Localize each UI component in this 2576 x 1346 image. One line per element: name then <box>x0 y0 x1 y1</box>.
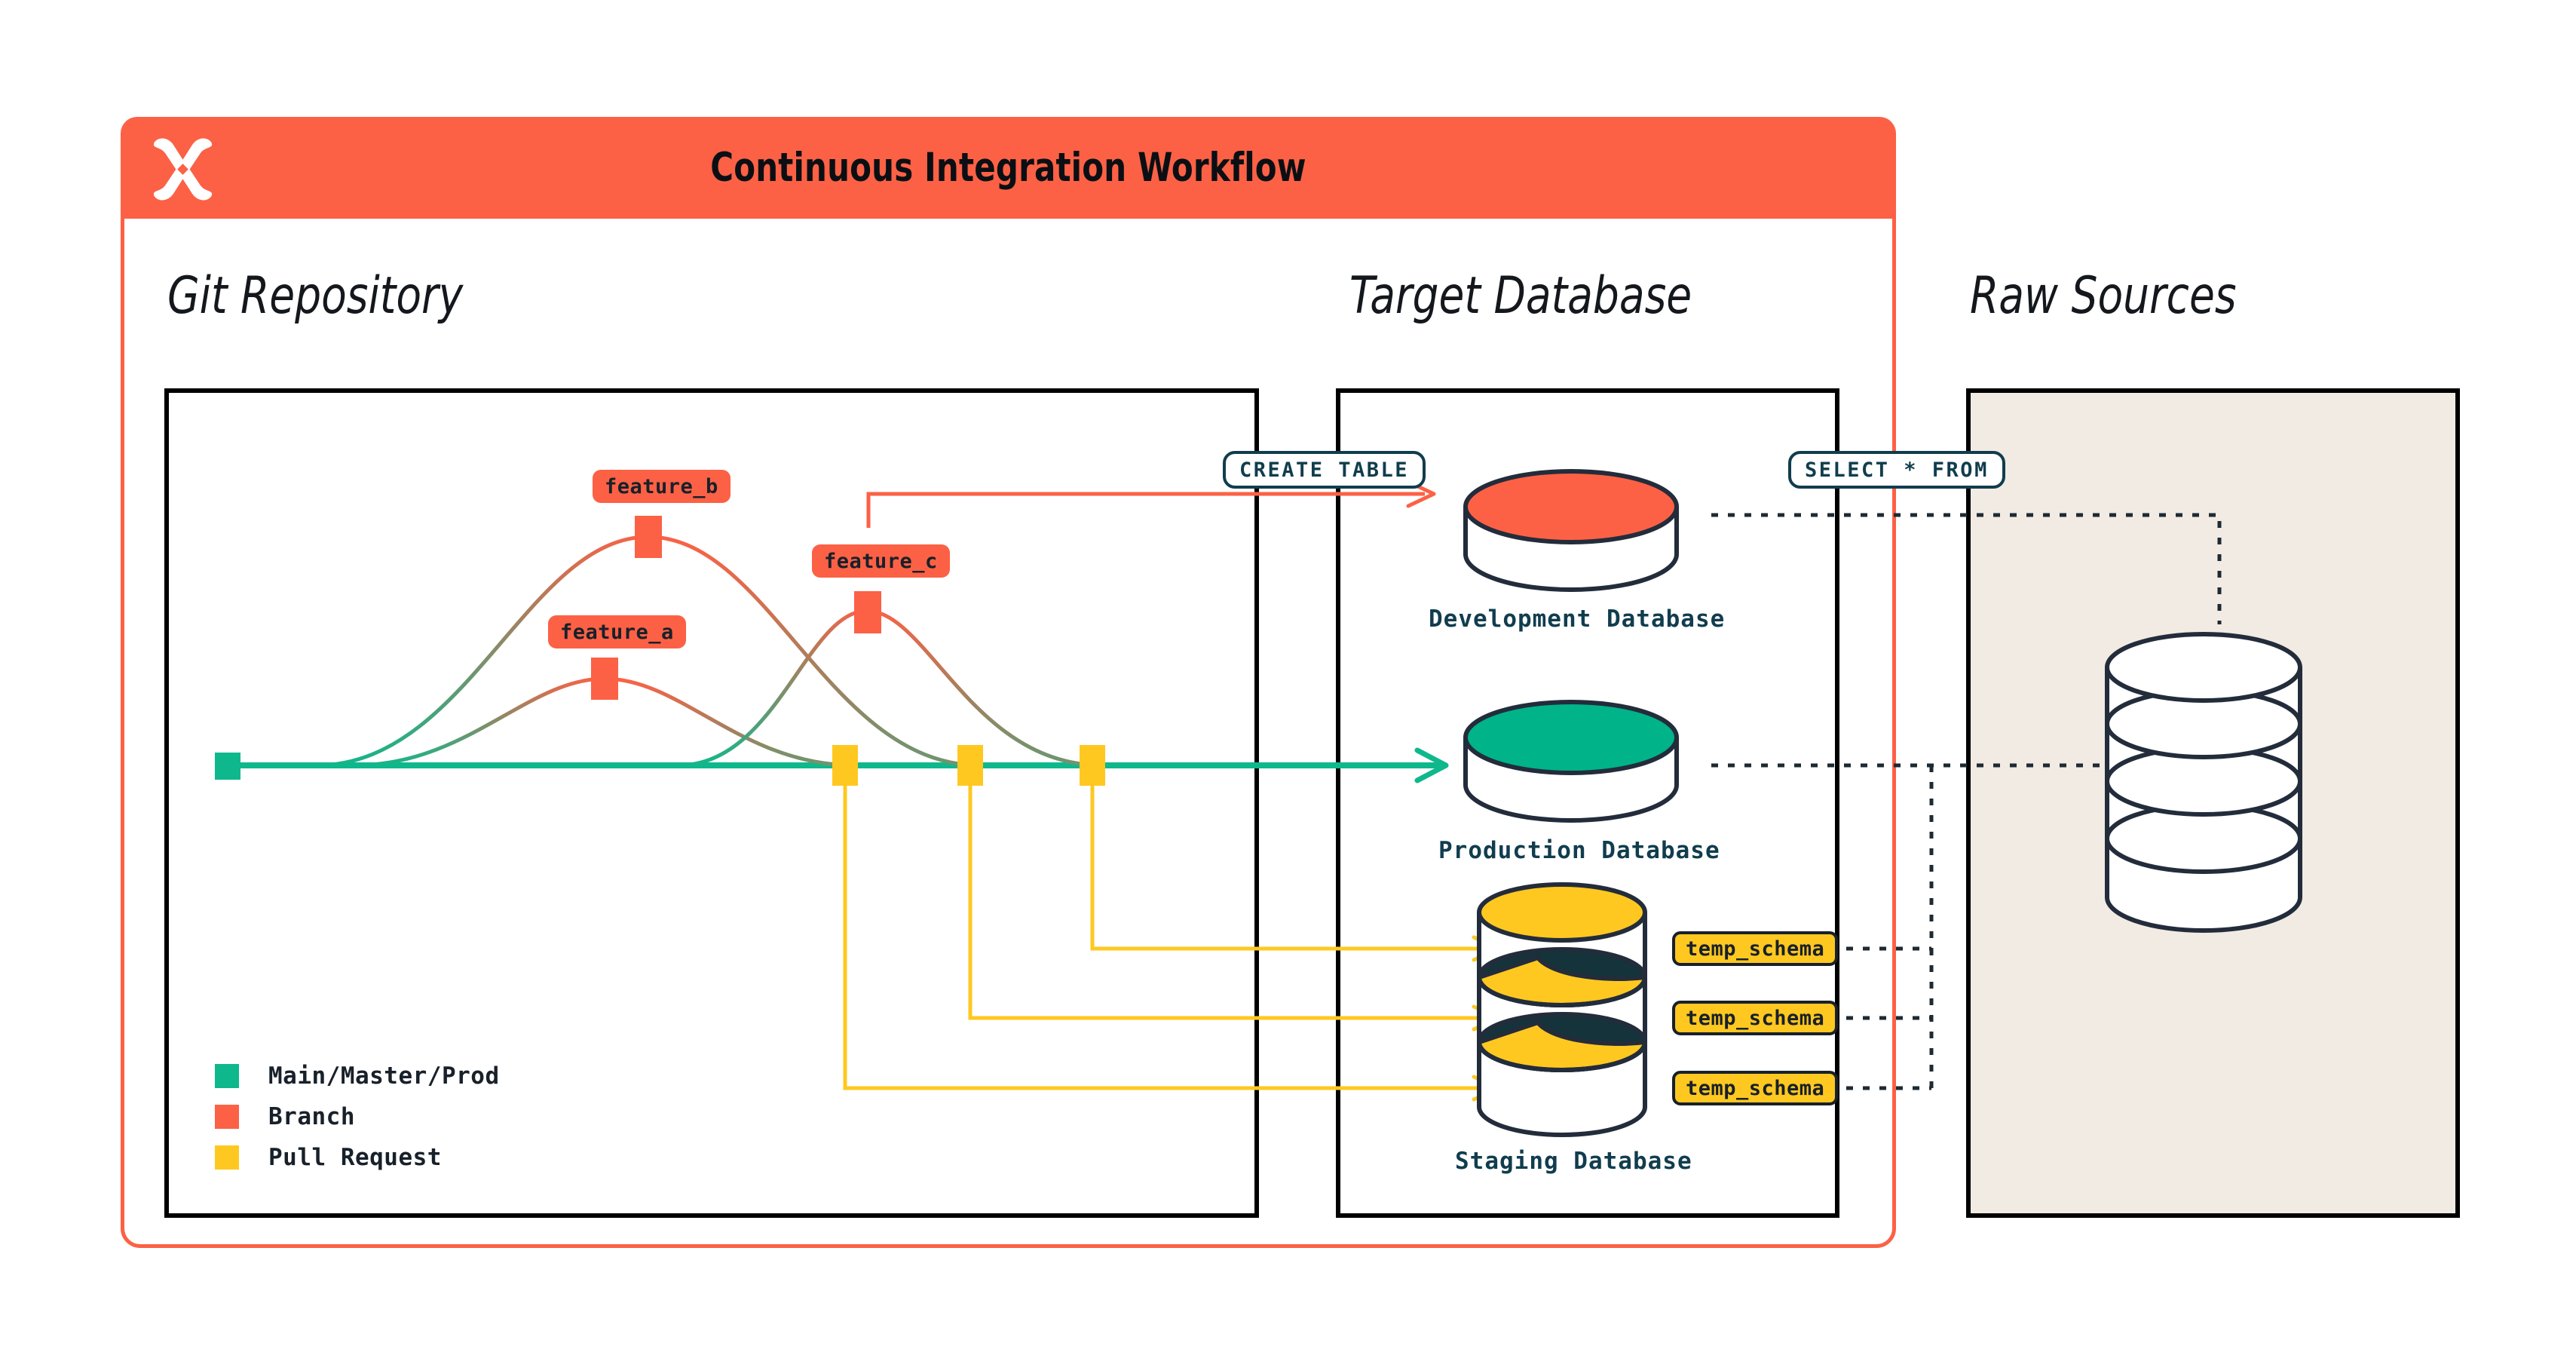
legend-swatch-branch-icon <box>215 1105 239 1129</box>
production-database-cylinder <box>1466 702 1677 820</box>
legend-label-pull-request: Pull Request <box>268 1144 442 1171</box>
commit-node-feature-c[interactable] <box>854 591 881 633</box>
legend-label-branch: Branch <box>268 1103 355 1130</box>
branch-curve-feature-c <box>678 611 1102 765</box>
branch-label-feature-c[interactable]: feature_c <box>812 544 950 578</box>
commit-node-pull-request-1[interactable] <box>832 745 858 786</box>
legend-item-branch: Branch <box>215 1096 500 1137</box>
arrow-pr-1-to-staging-db <box>1092 784 1499 960</box>
legend-label-main: Main/Master/Prod <box>268 1062 500 1090</box>
sql-label-create-table[interactable]: CREATE TABLE <box>1223 451 1426 489</box>
commit-node-main[interactable] <box>215 753 240 780</box>
commit-node-pull-request-2[interactable] <box>957 745 983 786</box>
arrow-pr-2-to-staging-db <box>970 784 1499 1029</box>
legend-swatch-pull-request-icon <box>215 1145 239 1170</box>
legend-item-main: Main/Master/Prod <box>215 1056 500 1096</box>
branch-label-feature-b[interactable]: feature_b <box>593 470 731 503</box>
sql-label-select-from[interactable]: SELECT * FROM <box>1788 451 2005 489</box>
schema-label-temp-schema-3[interactable]: temp_schema <box>1672 1071 1838 1105</box>
legend-item-pull-request: Pull Request <box>215 1137 500 1178</box>
development-database-cylinder <box>1466 471 1677 590</box>
legend-swatch-main-icon <box>215 1064 239 1088</box>
schema-label-temp-schema-2[interactable]: temp_schema <box>1672 1001 1838 1035</box>
dotted-raw-to-production-db <box>1711 765 2103 949</box>
caption-production-database: Production Database <box>1438 837 1720 864</box>
commit-node-pull-request-3[interactable] <box>1080 745 1105 786</box>
caption-development-database: Development Database <box>1429 606 1725 633</box>
arrow-pr-3-to-staging-db <box>845 784 1499 1099</box>
staging-database-cylinder <box>1479 885 1645 1135</box>
arrow-create-table-to-development-db <box>868 482 1434 528</box>
commit-node-feature-b[interactable] <box>635 516 662 558</box>
legend: Main/Master/Prod Branch Pull Request <box>215 1056 500 1178</box>
caption-staging-database: Staging Database <box>1455 1148 1692 1175</box>
branch-label-feature-a[interactable]: feature_a <box>548 615 686 648</box>
raw-sources-cylinder <box>2107 634 2300 931</box>
schema-label-temp-schema-1[interactable]: temp_schema <box>1672 931 1838 966</box>
diagram-canvas: Continuous Integration Workflow Git Repo… <box>0 0 2576 1346</box>
dotted-raw-to-development-db <box>1711 515 2219 624</box>
commit-node-feature-a[interactable] <box>591 658 618 700</box>
